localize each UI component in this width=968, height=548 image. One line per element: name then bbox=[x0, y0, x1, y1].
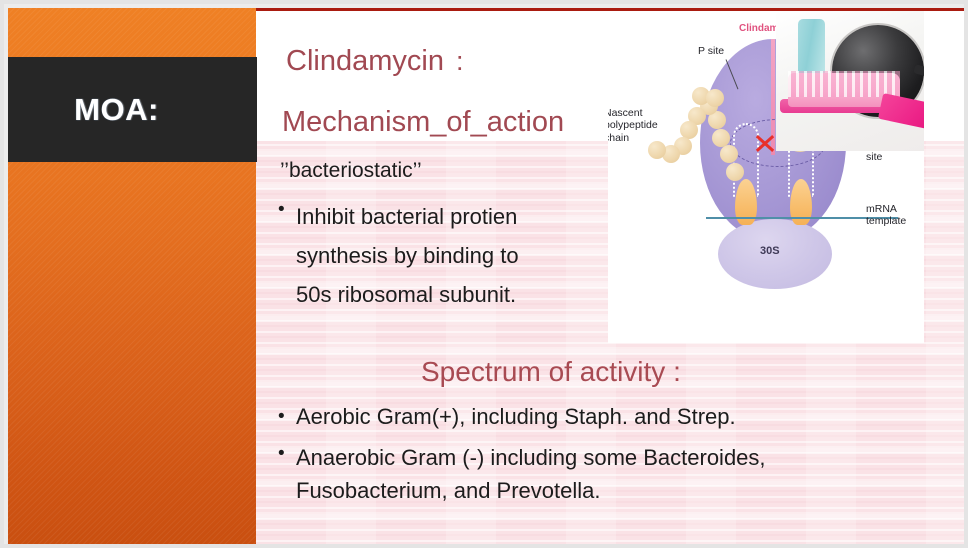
diagram-label-mrna-template: mRNA template bbox=[866, 203, 906, 228]
drug-title: Clindamycin: bbox=[286, 45, 463, 78]
bullet-dot-icon: • bbox=[278, 404, 296, 431]
toothpaste-tube-object bbox=[798, 19, 825, 77]
spectrum-bullet-text: Anaerobic Gram (-) including some Bacter… bbox=[296, 441, 766, 508]
drug-title-colon: : bbox=[456, 46, 464, 76]
slide-content-panel: Clindamycin: Mechanism_of_action ’’bacte… bbox=[256, 8, 968, 548]
spectrum-bullet-text: Aerobic Gram(+), including Staph. and St… bbox=[296, 404, 736, 431]
moa-bullet-text: Inhibit bacterial protien synthesis by b… bbox=[296, 197, 519, 314]
moa-bullet-item: • Inhibit bacterial protien synthesis by… bbox=[278, 197, 608, 314]
diagram-label-p-site: P site bbox=[698, 45, 724, 57]
spectrum-bullet-item: • Anaerobic Gram (-) including some Bact… bbox=[278, 441, 918, 508]
dental-care-photo bbox=[776, 11, 924, 151]
ribosome-mechanism-diagram: 50S 30S Clindamycin aa bbox=[608, 11, 924, 343]
section-label-band: MOA: bbox=[8, 57, 257, 162]
presentation-slide: MOA: Clindamycin: Mechanism_of_action ’’… bbox=[0, 0, 968, 548]
bacteriostatic-note: ’’bacteriostatic’’ bbox=[280, 159, 422, 183]
mechanism-of-action-heading: Mechanism_of_action bbox=[282, 106, 638, 139]
diagram-label-nascent-polypeptide-chain: Nascent polypeptide chain bbox=[608, 107, 658, 144]
polypeptide-bead bbox=[720, 145, 738, 163]
polypeptide-bead bbox=[726, 163, 744, 181]
drug-title-text: Clindamycin bbox=[286, 45, 444, 77]
blocked-transfer-x-icon bbox=[754, 133, 774, 153]
spectrum-bullet-item: • Aerobic Gram(+), including Staph. and … bbox=[278, 404, 898, 431]
spectrum-of-activity-heading: Spectrum of activity : bbox=[421, 356, 681, 388]
polypeptide-bead bbox=[712, 129, 730, 147]
diagram-label-30s: 30S bbox=[760, 245, 780, 257]
bullet-dot-icon: • bbox=[278, 197, 296, 314]
section-label-text: MOA: bbox=[74, 92, 159, 128]
polypeptide-bead bbox=[706, 89, 724, 107]
bullet-dot-icon: • bbox=[278, 441, 296, 508]
